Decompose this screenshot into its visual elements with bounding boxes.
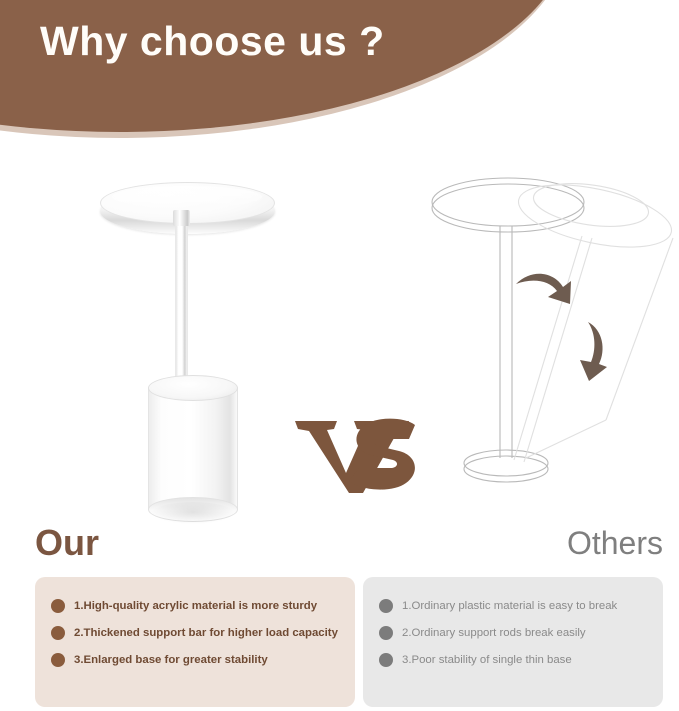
bullet-dot-icon [379,599,393,613]
others-drawback-2: 2.Ordinary support rods break easily [402,626,586,640]
page-title: Why choose us ? [40,18,385,65]
motion-arrow-lower-icon [580,322,607,381]
list-item: 2.Thickened support bar for higher load … [35,626,355,640]
others-panel: 1.Ordinary plastic material is easy to b… [363,577,663,707]
vs-divider-logo [293,415,423,495]
our-bullet-list: 1.High-quality acrylic material is more … [35,577,355,667]
bullet-dot-icon [379,626,393,640]
cylinder-base-body [148,388,238,510]
bullet-dot-icon [379,653,393,667]
list-item: 3.Poor stability of single thin base [363,653,663,667]
upright-top-inner [432,184,584,232]
tabletop-gloss-highlight [112,186,262,208]
our-panel: 1.High-quality acrylic material is more … [35,577,355,707]
others-drawback-3: 3.Poor stability of single thin base [402,653,572,667]
list-item: 3.Enlarged base for greater stability [35,653,355,667]
header-banner: Why choose us ? [0,0,679,145]
our-benefit-2: 2.Thickened support bar for higher load … [74,626,338,640]
others-heading: Others [567,525,663,562]
list-item: 2.Ordinary support rods break easily [363,626,663,640]
our-benefit-3: 3.Enlarged base for greater stability [74,653,268,667]
tipping-guide-right [606,238,673,420]
others-bullet-list: 1.Ordinary plastic material is easy to b… [363,577,663,667]
our-benefit-1: 1.High-quality acrylic material is more … [74,599,317,613]
competitor-table-wireframe [430,158,679,498]
wireframe-illustration [430,158,679,498]
promo-comparison-graphic: Why choose us ? [0,0,679,711]
rod-collar [173,210,190,226]
upright-base-inner [464,456,548,482]
bullet-dot-icon [51,626,65,640]
product-comparison-area [0,150,679,500]
motion-arrow-upper-icon [516,274,571,304]
cylinder-base-top-rim [148,375,238,401]
tipping-post-left [514,236,582,460]
motion-arrows [516,274,607,381]
bullet-dot-icon [51,653,65,667]
list-item: 1.Ordinary plastic material is easy to b… [363,599,663,613]
vs-icon [293,415,423,495]
others-drawback-1: 1.Ordinary plastic material is easy to b… [402,599,617,613]
list-item: 1.High-quality acrylic material is more … [35,599,355,613]
comparison-section: Our 1.High-quality acrylic material is m… [0,505,679,711]
bullet-dot-icon [51,599,65,613]
our-heading: Our [35,522,99,564]
tipping-guide-bottom [526,420,606,458]
acrylic-table-image [90,170,290,520]
tipping-post-right [524,238,592,462]
